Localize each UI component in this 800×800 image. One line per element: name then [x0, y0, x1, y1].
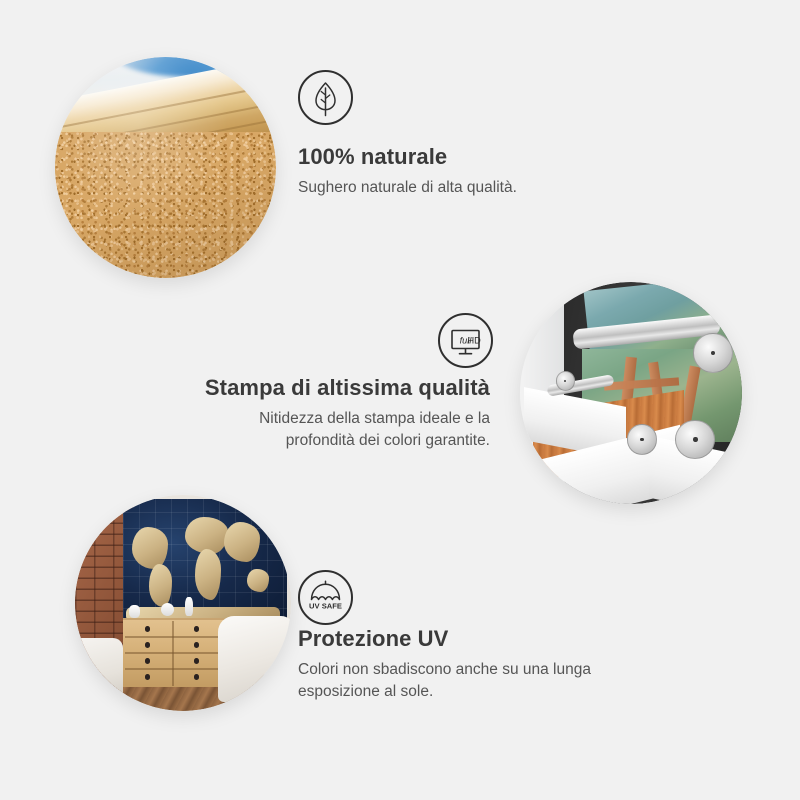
feature-uv-protection-description-line-2: esposizione al sole.: [298, 681, 728, 703]
cork-shading-overlay: [55, 57, 276, 278]
feature-natural-text: 100% naturale Sughero naturale di alta q…: [298, 144, 718, 199]
printer-wheel-center: [627, 424, 658, 455]
room-decor-figure: [185, 597, 193, 616]
feature-print-quality-description-line-1: Nitidezza della stampa ideale e la: [90, 408, 490, 430]
feature-uv-protection-text: Protezione UV Colori non sbadiscono anch…: [298, 626, 728, 703]
cork-texture-photo: [55, 57, 276, 278]
feature-uv-protection-description-line-1: Colori non sbadiscono anche su una lunga: [298, 659, 728, 681]
room-photo-inner: [75, 495, 291, 711]
feature-highlights-page: 100% naturale Sughero naturale di alta q…: [0, 0, 800, 800]
printer-photo-inner: [520, 282, 742, 504]
interior-room-photo: [75, 495, 291, 711]
room-dresser: [123, 618, 225, 687]
uv-safe-umbrella-icon: UV SAFE: [298, 570, 353, 625]
printer-wheel-left: [556, 371, 576, 391]
leaf-icon: [298, 70, 353, 125]
feature-print-quality-title: Stampa di altissima qualità: [90, 375, 490, 401]
fullhd-monitor-icon: full HD: [438, 313, 493, 368]
room-world-map-mural: [123, 499, 287, 624]
printer-wheel-right-top: [693, 333, 733, 373]
uv-safe-icon-label: UV SAFE: [309, 601, 342, 610]
feature-natural-title: 100% naturale: [298, 144, 718, 170]
feature-uv-protection-title: Protezione UV: [298, 626, 728, 652]
printer-wheel-right-bottom: [675, 420, 715, 460]
room-decor-vase: [129, 605, 140, 618]
room-armchair-right: [218, 616, 291, 702]
fullhd-icon-label-regular: HD: [468, 335, 482, 345]
feature-natural-description: Sughero naturale di alta qualità.: [298, 177, 718, 199]
feature-print-quality-text: Stampa di altissima qualità Nitidezza de…: [90, 375, 490, 452]
cork-photo-inner: [55, 57, 276, 278]
feature-print-quality-description-line-2: profondità dei colori garantite.: [90, 430, 490, 452]
room-armchair-left: [75, 638, 123, 703]
printing-machine-photo: [520, 282, 742, 504]
